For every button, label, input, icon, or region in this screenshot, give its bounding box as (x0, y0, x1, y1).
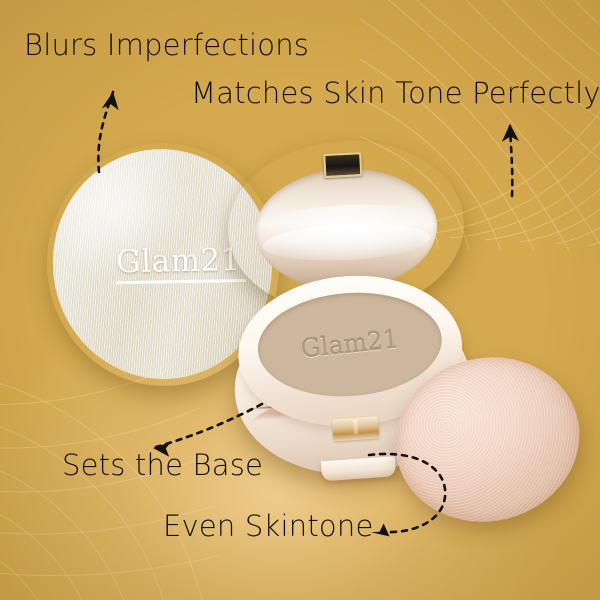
label-matches-skin-tone: Matches Skin Tone Perfectly (191, 76, 600, 110)
brand-logo-lid: Glam21 (115, 242, 241, 284)
brand-logo-pan: Glam21 (299, 325, 400, 364)
label-sets-the-base: Sets the Base (62, 448, 263, 482)
base-front-notch (321, 456, 396, 481)
label-even-skintone: Even Skintone (163, 509, 374, 543)
label-blurs-imperfections: Blurs Imperfections (24, 28, 309, 62)
base-clasp-icon (332, 416, 379, 441)
lid-clasp-icon (323, 152, 362, 178)
product-marketing-image: Glam21 Glam21 (0, 0, 600, 600)
brand-logo-lid-text: Glam21 (115, 242, 241, 280)
